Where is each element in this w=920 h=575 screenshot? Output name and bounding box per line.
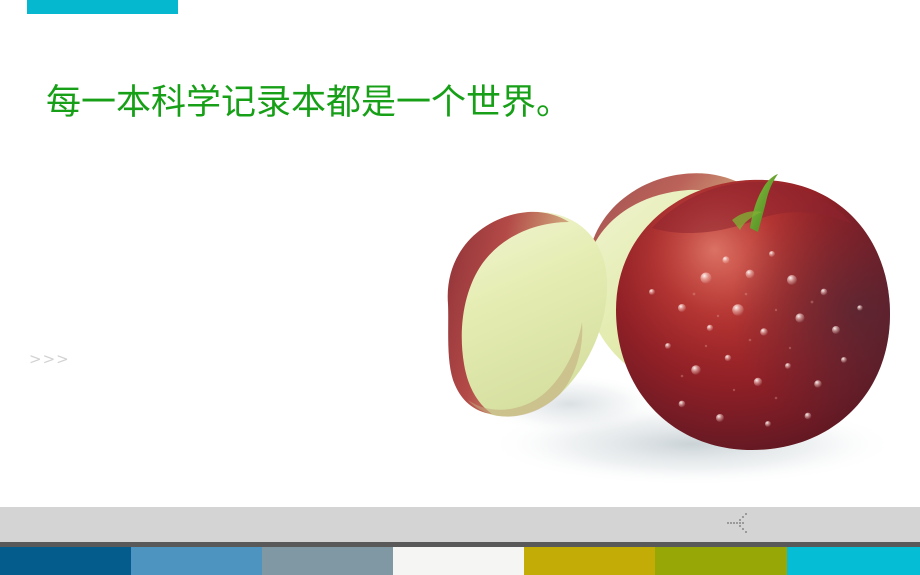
color-strip xyxy=(0,547,920,575)
slide-title: 每一本科学记录本都是一个世界。 xyxy=(46,82,571,124)
swatch-off-white xyxy=(393,547,524,575)
chevron-right-icon: >>> xyxy=(29,350,70,368)
presentation-slide: 每一本科学记录本都是一个世界。 >>> xyxy=(0,0,920,575)
swatch-dark-blue xyxy=(0,547,131,575)
dotted-arrow-right-icon xyxy=(726,513,754,535)
top-accent-bar xyxy=(27,0,178,14)
swatch-olive xyxy=(655,547,787,575)
swatch-slate-gray xyxy=(262,547,393,575)
swatch-gold xyxy=(524,547,655,575)
swatch-cyan xyxy=(787,547,920,575)
apple-photo-image xyxy=(420,132,920,502)
swatch-steel-blue xyxy=(131,547,262,575)
footer-band xyxy=(0,507,920,542)
